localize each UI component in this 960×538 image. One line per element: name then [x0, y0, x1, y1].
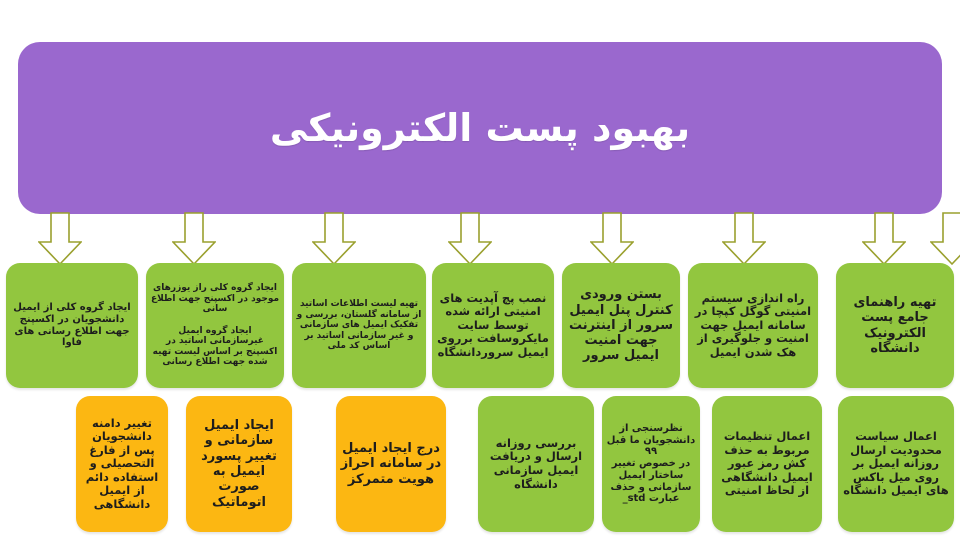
node-item-14[interactable]: اعمال سیاست محدودیت ارسال روزانه ایمیل ب…: [838, 396, 954, 532]
page-title: بهبود پست الکترونیکی: [270, 106, 690, 150]
node-label: اعمال تنظیمات مربوط به حذف کش رمز عبور ا…: [716, 430, 818, 498]
node-item-9[interactable]: ایجاد ایمیل سازمانی و تغییر پسورد ایمیل …: [186, 396, 292, 532]
node-item-8[interactable]: تغییر دامنه دانشجویان پس از فارغ التحصیل…: [76, 396, 168, 532]
node-item-12[interactable]: نظرسنجی از دانشجویان ما قبل ۹۹ در خصوص ت…: [602, 396, 700, 532]
node-item-5[interactable]: بستن ورودی کنترل پنل ایمیل سرور از اینتر…: [562, 263, 680, 388]
node-label: تهیه راهنمای جامع پست الکترونیک دانشگاه: [840, 295, 950, 356]
node-item-13[interactable]: اعمال تنظیمات مربوط به حذف کش رمز عبور ا…: [712, 396, 822, 532]
arrow-down-icon-7: [862, 212, 906, 266]
node-label: ایجاد گروه کلی راز یوزرهای موجود در اکسپ…: [150, 283, 280, 368]
node-item-6[interactable]: راه اندازی سیستم امنیتی گوگل کپچا در سام…: [688, 263, 818, 388]
arrow-down-icon-1: [38, 212, 82, 266]
node-label: بررسی روزانه ارسال و دریافت ایمیل سازمان…: [482, 437, 590, 491]
node-label: درج ایجاد ایمیل در سامانه احراز هویت متم…: [340, 441, 442, 487]
arrow-down-icon-3: [312, 212, 356, 266]
node-item-4[interactable]: نصب پچ آپدیت های امنیتی ارائه شده توسط س…: [432, 263, 554, 388]
node-label: راه اندازی سیستم امنیتی گوگل کپچا در سام…: [692, 292, 814, 360]
node-item-7[interactable]: تهیه راهنمای جامع پست الکترونیک دانشگاه: [836, 263, 954, 388]
node-label: تغییر دامنه دانشجویان پس از فارغ التحصیل…: [80, 417, 164, 512]
arrow-down-icon-5: [590, 212, 634, 266]
diagram-canvas: بهبود پست الکترونیکی ایجاد گروه کلی از ا…: [0, 0, 960, 538]
node-item-2[interactable]: ایجاد گروه کلی راز یوزرهای موجود در اکسپ…: [146, 263, 284, 388]
diagram-title-banner: بهبود پست الکترونیکی: [18, 42, 942, 214]
node-label: ایجاد گروه کلی از ایمیل دانشجویان در اکس…: [10, 302, 134, 349]
node-item-1[interactable]: ایجاد گروه کلی از ایمیل دانشجویان در اکس…: [6, 263, 138, 388]
node-label: اعمال سیاست محدودیت ارسال روزانه ایمیل ب…: [842, 430, 950, 498]
node-label: نظرسنجی از دانشجویان ما قبل ۹۹ در خصوص ت…: [606, 423, 696, 506]
node-item-3[interactable]: تهیه لیست اطلاعات اساتید از سامانه گلستا…: [292, 263, 426, 388]
arrow-down-icon-8: [930, 212, 960, 266]
node-label: ایجاد ایمیل سازمانی و تغییر پسورد ایمیل …: [190, 418, 288, 510]
node-label: تهیه لیست اطلاعات اساتید از سامانه گلستا…: [296, 299, 422, 352]
arrow-down-icon-6: [722, 212, 766, 266]
arrow-down-icon-2: [172, 212, 216, 266]
node-item-10[interactable]: درج ایجاد ایمیل در سامانه احراز هویت متم…: [336, 396, 446, 532]
node-label: نصب پچ آپدیت های امنیتی ارائه شده توسط س…: [436, 292, 550, 360]
arrow-down-icon-4: [448, 212, 492, 266]
node-item-11[interactable]: بررسی روزانه ارسال و دریافت ایمیل سازمان…: [478, 396, 594, 532]
node-label: بستن ورودی کنترل پنل ایمیل سرور از اینتر…: [566, 287, 676, 364]
